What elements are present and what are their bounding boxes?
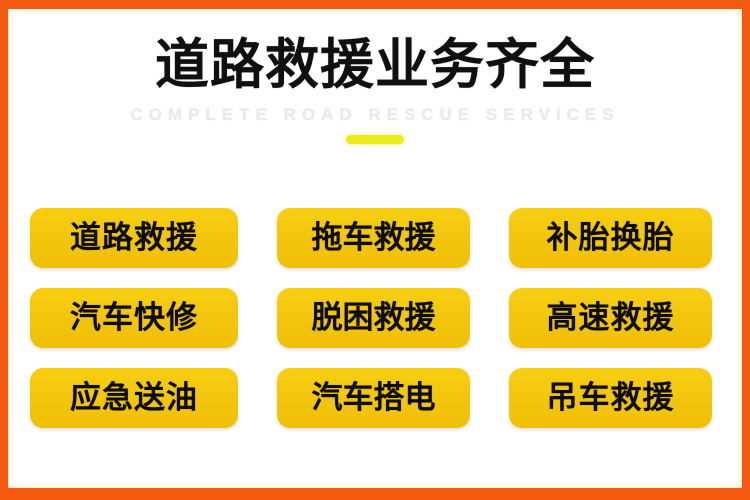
service-button-label: 汽车快修 <box>70 301 198 335</box>
service-button-label: 脱困救援 <box>312 301 436 335</box>
service-button-emergency-fuel[interactable]: 应急送油 <box>30 368 238 428</box>
page-subtitle: COMPLETE ROAD RESCUE SERVICES <box>8 105 742 125</box>
service-button-tire-repair-replace[interactable]: 补胎换胎 <box>509 208 712 268</box>
service-button-quick-car-repair[interactable]: 汽车快修 <box>30 288 238 348</box>
accent-bar-wrap <box>8 135 742 144</box>
service-button-road-rescue[interactable]: 道路救援 <box>30 208 238 268</box>
service-button-label: 汽车搭电 <box>312 381 436 415</box>
border-left <box>0 0 8 500</box>
service-button-extraction-rescue[interactable]: 脱困救援 <box>277 288 470 348</box>
page-title: 道路救援业务齐全 <box>8 34 742 96</box>
service-button-tow-rescue[interactable]: 拖车救援 <box>277 208 470 268</box>
service-button-grid: 道路救援 拖车救援 补胎换胎 汽车快修 脱困救援 高速救援 应急送油 汽车搭电 … <box>30 208 713 428</box>
service-poster: 道路救援业务齐全 COMPLETE ROAD RESCUE SERVICES 道… <box>0 0 750 500</box>
service-button-label: 吊车救援 <box>547 381 675 415</box>
service-button-label: 道路救援 <box>70 221 198 255</box>
accent-underline <box>346 135 404 144</box>
service-button-highway-rescue[interactable]: 高速救援 <box>509 288 712 348</box>
border-right <box>742 0 750 500</box>
service-button-jump-start[interactable]: 汽车搭电 <box>277 368 470 428</box>
service-button-label: 应急送油 <box>70 381 198 415</box>
service-button-label: 补胎换胎 <box>547 221 675 255</box>
service-button-crane-rescue[interactable]: 吊车救援 <box>509 368 712 428</box>
poster-header: 道路救援业务齐全 COMPLETE ROAD RESCUE SERVICES <box>8 34 742 144</box>
border-top <box>0 0 750 9</box>
service-button-label: 拖车救援 <box>312 221 436 255</box>
border-bottom <box>0 488 750 500</box>
service-button-label: 高速救援 <box>547 301 675 335</box>
